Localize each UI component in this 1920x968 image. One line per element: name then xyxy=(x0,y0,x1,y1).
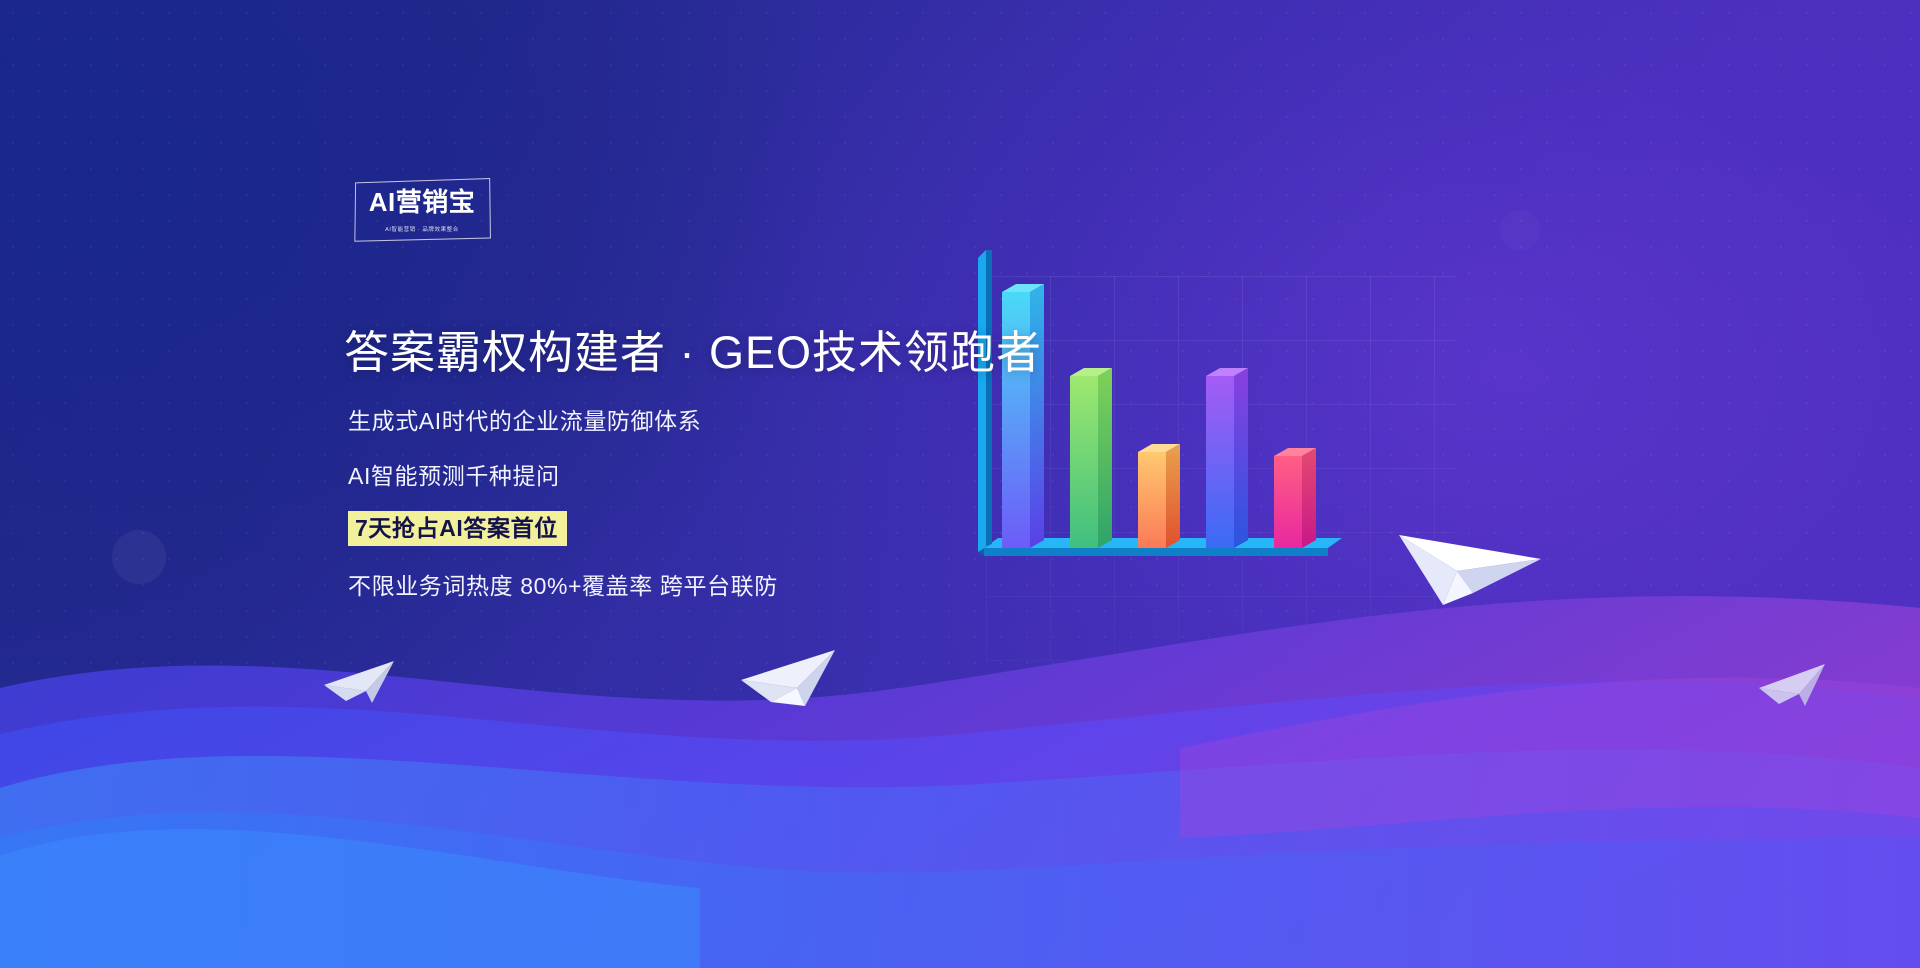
hero-banner: AI营销宝 AI智能营销 · 品牌效果整合 答案霸权构建者 · GEO技术领跑者… xyxy=(0,0,1920,968)
chart-bar-4 xyxy=(1206,368,1248,548)
chart-bar-3 xyxy=(1138,444,1180,548)
subtitle-line-2: AI智能预测千种提问 xyxy=(348,457,560,491)
logo-tagline: AI智能营销 · 品牌效果整合 xyxy=(359,224,484,232)
paper-plane-icon xyxy=(1395,505,1543,609)
paper-plane-icon xyxy=(320,655,396,707)
brand-logo[interactable]: AI营销宝 AI智能营销 · 品牌效果整合 xyxy=(354,180,490,240)
decorative-circle xyxy=(1500,210,1540,250)
subtitle-line-4: 不限业务词热度 80%+覆盖率 跨平台联防 xyxy=(348,567,778,601)
page-title: 答案霸权构建者 · GEO技术领跑者 xyxy=(344,316,1042,381)
chart-bar-2 xyxy=(1070,368,1112,548)
highlight-text: 7天抢占AI答案首位 xyxy=(348,511,567,546)
highlight-callout: 7天抢占AI答案首位 xyxy=(348,511,567,546)
chart-y-axis xyxy=(978,250,992,552)
wave-decoration xyxy=(0,538,1920,968)
paper-plane-icon xyxy=(1755,660,1827,710)
paper-plane-icon xyxy=(735,640,837,712)
subtitle-line-1: 生成式AI时代的企业流量防御体系 xyxy=(348,402,701,436)
logo-wordmark: AI营销宝 xyxy=(354,189,490,215)
chart-bar-5 xyxy=(1274,448,1316,548)
